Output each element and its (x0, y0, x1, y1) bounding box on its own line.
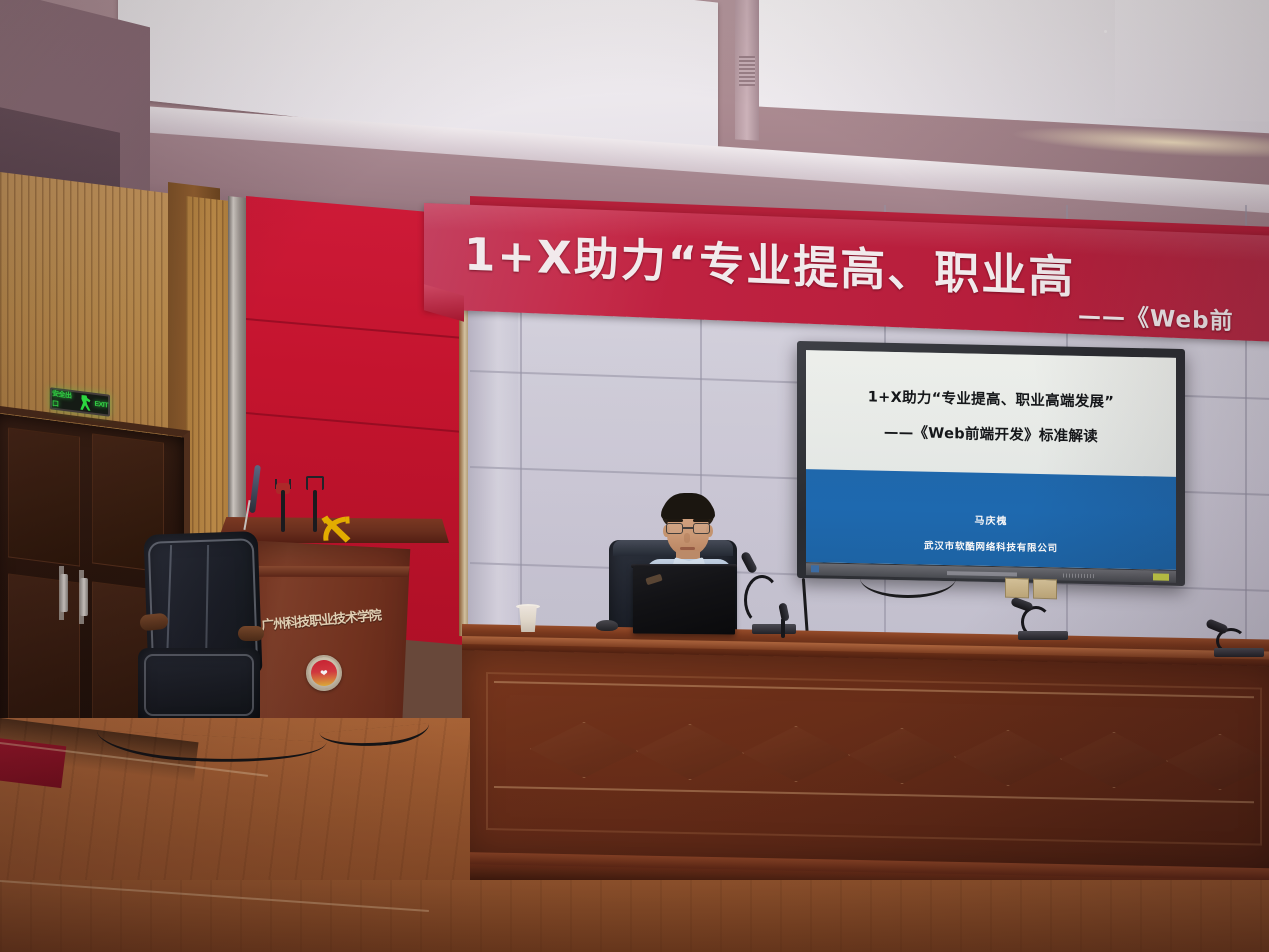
slide-title-line2: ——《Web前端开发》标准解读 (884, 421, 1098, 446)
microphone-base[interactable] (1214, 648, 1264, 657)
ceiling-light-panel-far-right (1115, 0, 1269, 122)
ceiling-speck (1104, 30, 1107, 33)
conference-hall-photo: 安全出口 EXIT 1+X助力“专业提高、职业高 ——《Web前 1+X助力“专… (0, 0, 1269, 952)
banner-sub-text: ——《Web前 (1078, 296, 1234, 336)
computer-mouse[interactable] (596, 620, 618, 631)
microphone-base[interactable] (752, 624, 796, 634)
door-handle[interactable] (60, 574, 68, 612)
lectern-microphone (281, 490, 285, 532)
chair-armrest (238, 626, 264, 641)
microphone-clip (306, 476, 324, 490)
lectern-trim-band (231, 566, 421, 577)
screen-status-led (1153, 573, 1169, 580)
wall-power-outlet[interactable] (1005, 578, 1029, 599)
slide-title-line1: 1+X助力“专业提高、职业高端发展” (868, 386, 1114, 412)
laptop-computer[interactable] (633, 565, 735, 634)
eyebrow-left (667, 519, 683, 522)
chair-piping (144, 654, 254, 716)
ceiling-vent-grille (739, 56, 755, 86)
hair-front (661, 499, 715, 519)
slide-speaker-name: 马庆槐 (975, 512, 1008, 528)
glasses-bridge (683, 527, 693, 529)
door-handle[interactable] (80, 578, 88, 616)
heart-icon: ❤ (320, 667, 328, 678)
seal-inner: ❤ (310, 659, 337, 686)
paper-cup[interactable] (518, 606, 538, 632)
stage-floor-front (0, 880, 1269, 952)
slide-speaker-area: 马庆槐 武汉市软酷网络科技有限公司 (806, 469, 1176, 570)
lens-left (666, 523, 683, 534)
running-person-icon (79, 394, 92, 411)
lens-right (693, 523, 710, 534)
screen-power-button[interactable] (811, 565, 819, 572)
screen-surface: 1+X助力“专业提高、职业高端发展” ——《Web前端开发》标准解读 马庆槐 武… (806, 350, 1176, 570)
mouth (680, 547, 695, 550)
eyebrow-right (693, 519, 709, 522)
exit-sign-label-en: EXIT (94, 400, 108, 409)
microphone-gooseneck (744, 575, 780, 625)
door-panel (8, 427, 80, 566)
hammer-and-sickle-emblem (315, 512, 361, 548)
nose (684, 533, 690, 543)
presentation-screen[interactable]: 1+X助力“专业提高、职业高端发展” ——《Web前端开发》标准解读 马庆槐 武… (797, 341, 1185, 586)
door-panel (8, 573, 80, 732)
wall-power-outlet[interactable] (1033, 579, 1057, 600)
slide-title-area: 1+X助力“专业提高、职业高端发展” ——《Web前端开发》标准解读 (806, 350, 1176, 476)
lectern-microphone (313, 490, 317, 532)
exit-sign-label-cn: 安全出口 (52, 389, 77, 412)
slide-speaker-org: 武汉市软酷网络科技有限公司 (924, 537, 1058, 554)
microphone-base[interactable] (1018, 631, 1068, 640)
screen-speaker-grille (1063, 574, 1095, 579)
